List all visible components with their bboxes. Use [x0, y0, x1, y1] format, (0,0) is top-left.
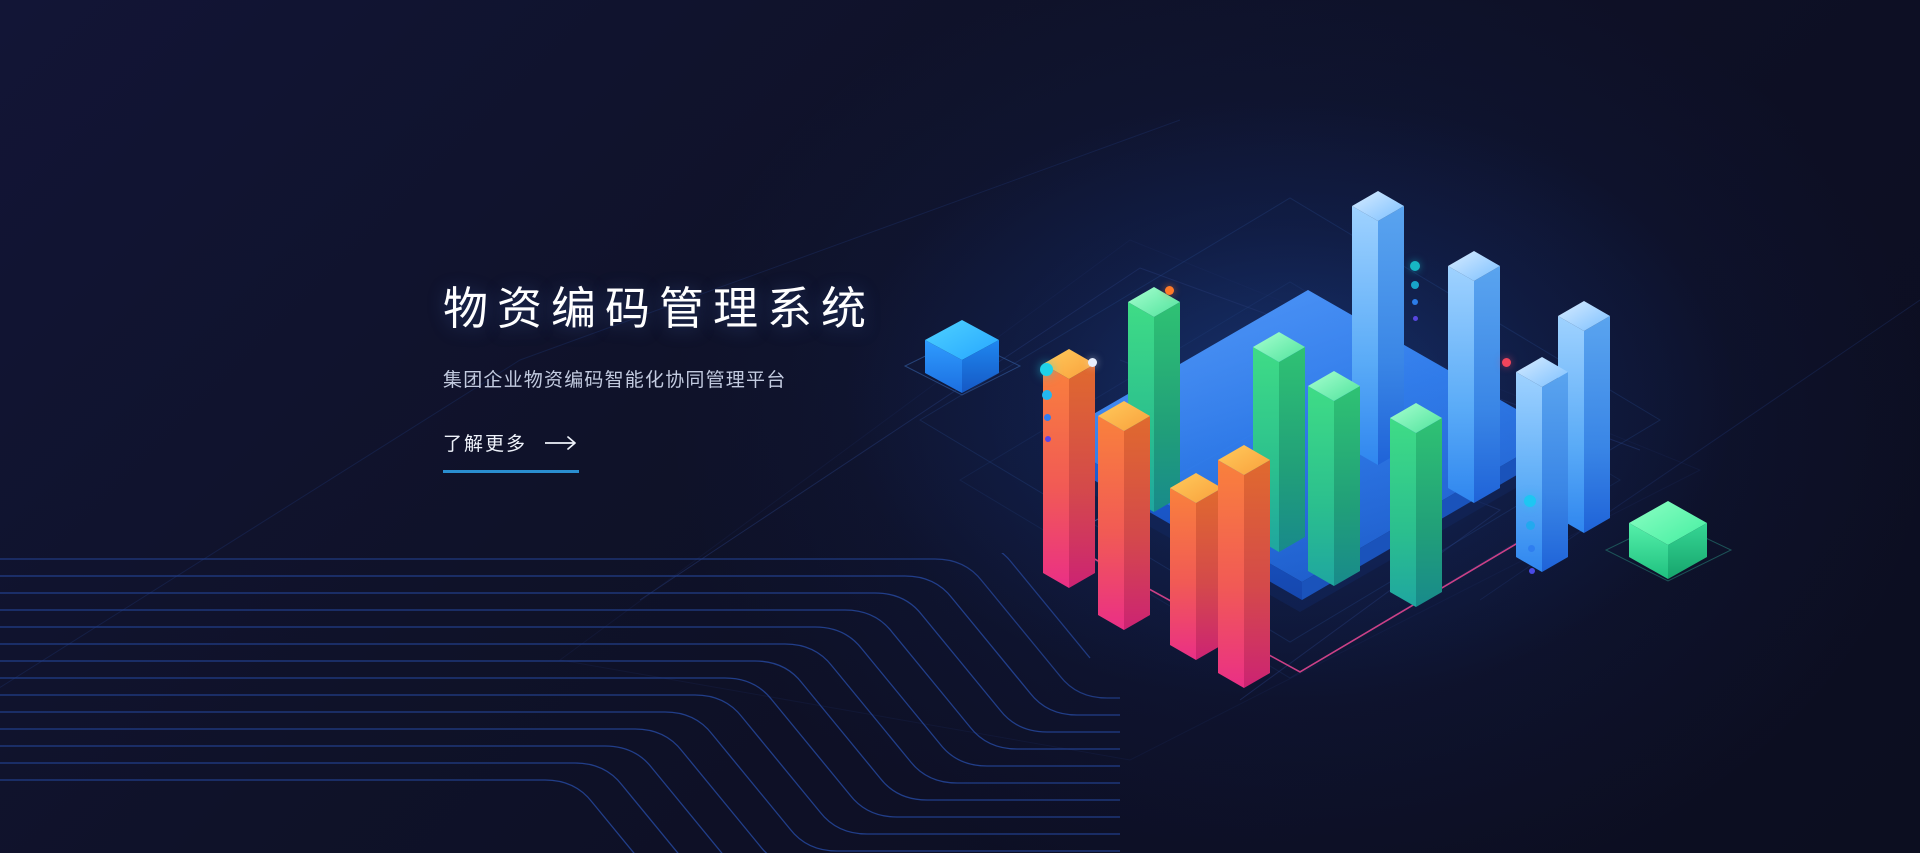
- dot-column-left-3: [1044, 414, 1051, 421]
- dot-column-cyan-3: [1528, 545, 1535, 552]
- hero-banner: 物资编码管理系统 集团企业物资编码智能化协同管理平台 了解更多: [0, 0, 1920, 853]
- dot-column-cyan-1: [1524, 495, 1536, 507]
- dot-orange: [1165, 286, 1174, 295]
- bar: [1390, 403, 1442, 607]
- dot-column-cyan-2: [1526, 521, 1535, 530]
- arrow-right-icon: [545, 436, 579, 450]
- bar: [1098, 401, 1150, 630]
- dot-column-teal-2: [1411, 281, 1419, 289]
- bar: [1170, 473, 1222, 660]
- dot-column-left-2: [1042, 390, 1052, 400]
- bar: [1448, 251, 1500, 503]
- dot-column-teal-1: [1410, 261, 1420, 271]
- bar-chart-3d: [1000, 120, 1640, 680]
- bar: [1218, 445, 1270, 688]
- learn-more-label: 了解更多: [443, 429, 527, 456]
- bar: [1308, 371, 1360, 586]
- dot-red: [1502, 358, 1511, 367]
- bar: [1516, 357, 1568, 572]
- learn-more-button[interactable]: 了解更多: [443, 429, 579, 473]
- dot-column-teal-4: [1413, 316, 1418, 321]
- dot-column-cyan-4: [1529, 568, 1535, 574]
- dot-column-teal-3: [1412, 299, 1418, 305]
- dot-white: [1088, 358, 1097, 367]
- circuit-lines-decoration: [0, 553, 1120, 853]
- bar: [1043, 349, 1095, 588]
- dot-column-left-1: [1040, 363, 1053, 376]
- dot-column-left-4: [1045, 436, 1051, 442]
